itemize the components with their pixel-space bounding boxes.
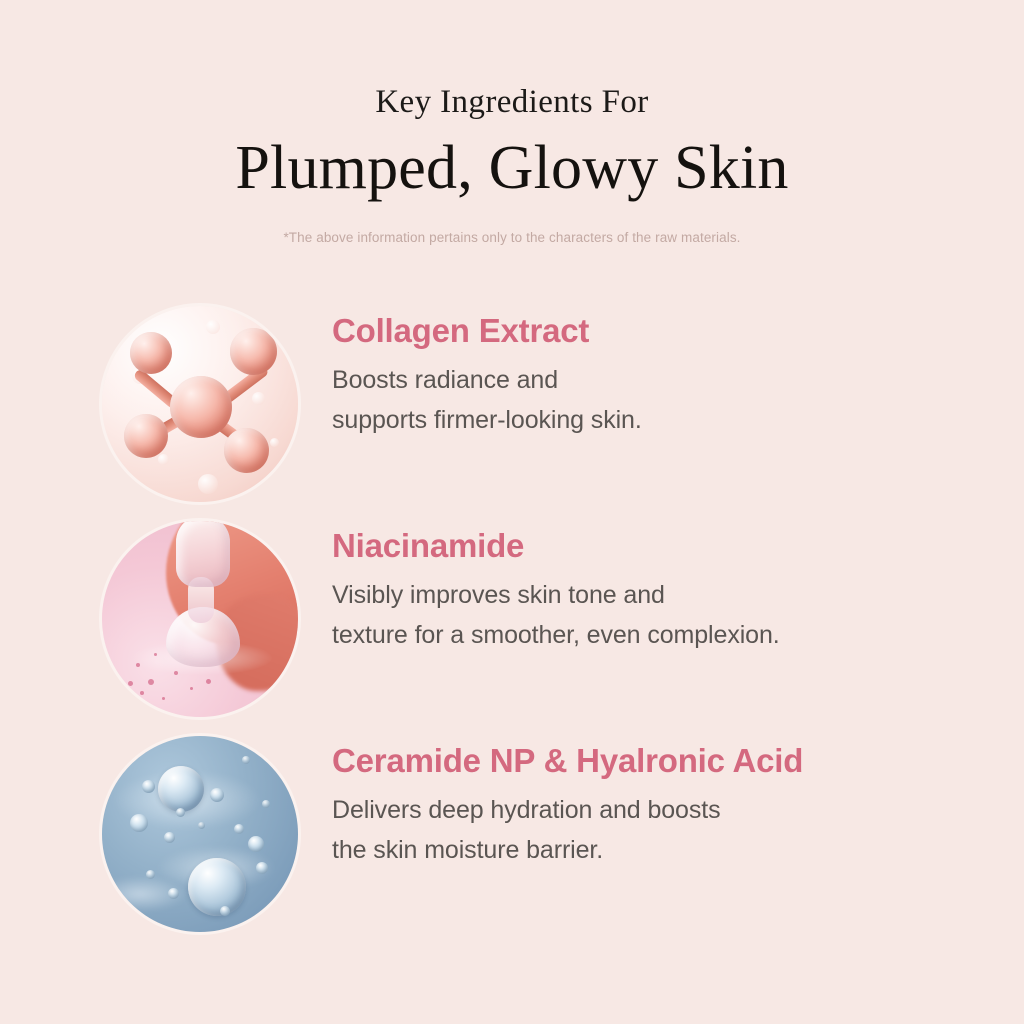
water-droplet-small [242, 756, 250, 764]
ingredient-row-niacinamide: Niacinamide Visibly improves skin tone a… [0, 513, 1024, 728]
molecule-atom [224, 428, 269, 473]
water-droplet-small [210, 788, 224, 802]
ingredient-description-line1: Delivers deep hydration and boosts [332, 790, 803, 831]
water-droplet-small [176, 808, 185, 817]
niacinamide-serum-thumbnail [102, 521, 298, 717]
ingredient-title: Collagen Extract [332, 312, 642, 350]
ingredient-description-line2: the skin moisture barrier. [332, 830, 803, 871]
water-droplet-small [256, 862, 268, 874]
ingredient-copy: Ceramide NP & Hyalronic Acid Delivers de… [332, 728, 803, 871]
ingredient-description-line1: Boosts radiance and [332, 360, 642, 401]
ingredient-title: Ceramide NP & Hyalronic Acid [332, 742, 803, 780]
molecule-atom [230, 328, 277, 375]
water-droplet-small [142, 780, 155, 793]
water-droplet-small [168, 888, 179, 899]
water-droplet-small [198, 822, 205, 829]
ingredients-infographic: { "theme": { "background": "#F7E8E4", "h… [0, 0, 1024, 1024]
header-block: Key Ingredients For Plumped, Glowy Skin … [0, 0, 1024, 245]
water-droplet [188, 858, 246, 916]
ceramide-hyaluronic-water-thumbnail [102, 736, 298, 932]
water-droplet-small [164, 832, 175, 843]
water-droplet-small [234, 824, 244, 834]
ingredient-row-ceramide: Ceramide NP & Hyalronic Acid Delivers de… [0, 728, 1024, 943]
ingredient-title: Niacinamide [332, 527, 780, 565]
water-droplet-small [146, 870, 155, 879]
eyebrow-text: Key Ingredients For [0, 84, 1024, 120]
ingredient-description-line1: Visibly improves skin tone and [332, 575, 780, 616]
ingredient-description-line2: supports firmer-looking skin. [332, 400, 642, 441]
water-droplet-small [220, 906, 230, 916]
molecule-atom [130, 332, 172, 374]
disclaimer-text: *The above information pertains only to … [0, 230, 1024, 245]
water-droplet-small [262, 800, 270, 808]
water-droplet [158, 766, 204, 812]
ingredient-copy: Niacinamide Visibly improves skin tone a… [332, 513, 780, 656]
molecule-atom-center [170, 376, 232, 438]
water-droplet-small [248, 836, 264, 852]
ingredient-list: Collagen Extract Boosts radiance and sup… [0, 298, 1024, 943]
ingredient-copy: Collagen Extract Boosts radiance and sup… [332, 298, 642, 441]
collagen-molecule-thumbnail [102, 306, 298, 502]
dropper-bulb [176, 521, 230, 587]
molecule-atom [124, 414, 168, 458]
ingredient-description-line2: texture for a smoother, even complexion. [332, 615, 780, 656]
ingredient-row-collagen: Collagen Extract Boosts radiance and sup… [0, 298, 1024, 513]
water-droplet-small [130, 814, 148, 832]
page-title: Plumped, Glowy Skin [0, 134, 1024, 203]
